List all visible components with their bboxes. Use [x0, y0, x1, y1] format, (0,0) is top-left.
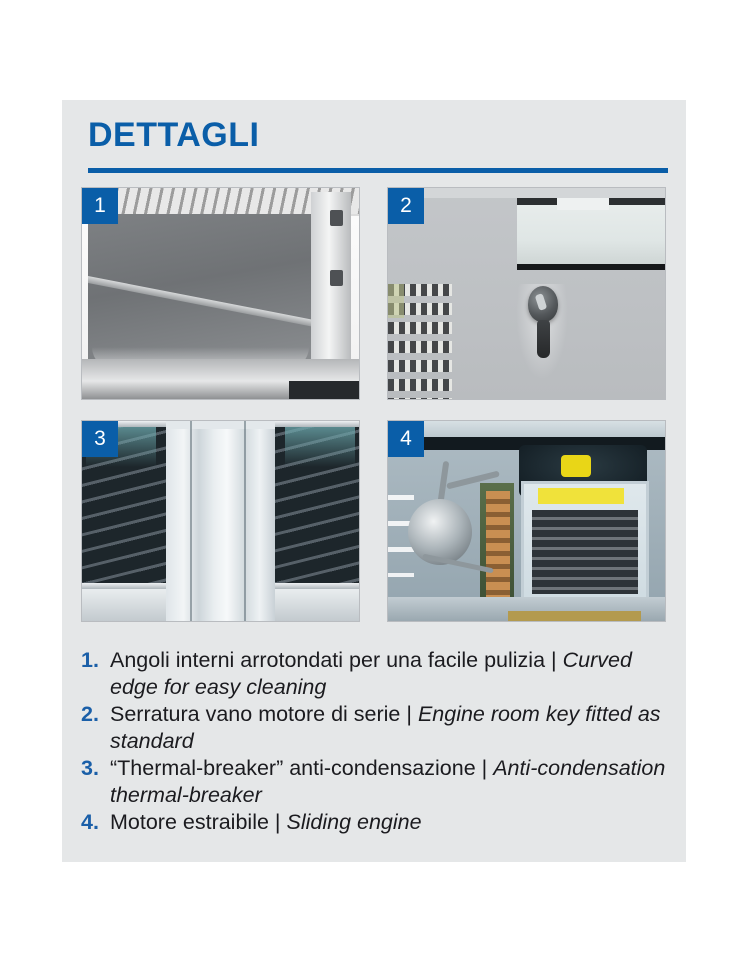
cabinet-hinge-bottom: [330, 270, 343, 286]
details-panel: DETTAGLI 1 2: [62, 100, 686, 862]
title-underline: [88, 168, 668, 173]
terminal-block: [486, 491, 510, 597]
grille-tint: [388, 284, 404, 318]
detail-badge-2: 2: [388, 188, 424, 224]
cabinet-base-strip: [289, 381, 359, 399]
caption-number-2: 2.: [81, 701, 110, 728]
caption-text-4: Motore estraibile | Sliding engine: [110, 809, 667, 836]
detail-photo-4: [388, 421, 665, 621]
caption-number-1: 1.: [81, 647, 110, 674]
page-title: DETTAGLI: [88, 118, 259, 152]
detail-badge-1: 1: [82, 188, 118, 224]
caption-text-3: “Thermal-breaker” anti-condensazione | A…: [110, 755, 667, 809]
glass-reflection-right: [285, 427, 355, 467]
compressor: [408, 499, 472, 565]
caption-it-1: Angoli interni arrotondati per una facil…: [110, 648, 545, 672]
list-item: 1. Angoli interni arrotondati per una fa…: [81, 647, 667, 701]
caption-separator-1: |: [545, 648, 563, 672]
details-caption-list: 1. Angoli interni arrotondati per una fa…: [81, 647, 667, 836]
image-row-1: 1 2: [81, 187, 667, 400]
caption-it-3: “Thermal-breaker” anti-condensazione: [110, 756, 476, 780]
caption-separator-3: |: [476, 756, 494, 780]
details-image-grid: 1 2: [81, 187, 667, 622]
caption-text-2: Serratura vano motore di serie | Engine …: [110, 701, 667, 755]
shelf-left: [82, 589, 170, 621]
thermal-breaker-mullion: [166, 421, 275, 621]
mullion-seam-left: [190, 421, 192, 621]
detail-badge-4: 4: [388, 421, 424, 457]
caption-it-4: Motore estraibile: [110, 810, 269, 834]
caption-number-4: 4.: [81, 809, 110, 836]
detail-photo-1: [82, 188, 359, 399]
mullion-cap: [166, 421, 275, 429]
list-item: 4. Motore estraibile | Sliding engine: [81, 809, 667, 836]
condenser-label: [538, 488, 624, 504]
caption-en-4: Sliding engine: [286, 810, 421, 834]
shelf-right: [271, 589, 359, 621]
caption-separator-4: |: [269, 810, 287, 834]
caption-separator-2: |: [400, 702, 418, 726]
list-item: 2. Serratura vano motore di serie | Engi…: [81, 701, 667, 755]
detail-badge-3: 3: [82, 421, 118, 457]
condenser-coil: [532, 510, 638, 594]
detail-tile-1[interactable]: 1: [81, 187, 360, 400]
caption-number-3: 3.: [81, 755, 110, 782]
list-item: 3. “Thermal-breaker” anti-condensazione …: [81, 755, 667, 809]
image-row-2: 3 4: [81, 420, 667, 622]
detail-tile-2[interactable]: 2: [387, 187, 666, 400]
detail-tile-4[interactable]: 4: [387, 420, 666, 622]
panel-top-band: [388, 188, 665, 198]
caption-text-1: Angoli interni arrotondati per una facil…: [110, 647, 667, 701]
condenser-unit: [521, 481, 649, 607]
key-icon: [537, 320, 550, 358]
lock-icon: [528, 286, 558, 322]
engine-base-trim: [508, 611, 641, 621]
detail-tile-3[interactable]: 3: [81, 420, 360, 622]
mullion-seam-right: [244, 421, 246, 621]
cabinet-hinge-top: [330, 210, 343, 226]
caption-it-2: Serratura vano motore di serie: [110, 702, 400, 726]
worktop-gap: [557, 198, 609, 210]
detail-photo-3: [82, 421, 359, 621]
fan-label: [561, 455, 591, 477]
detail-photo-2: [388, 188, 665, 399]
